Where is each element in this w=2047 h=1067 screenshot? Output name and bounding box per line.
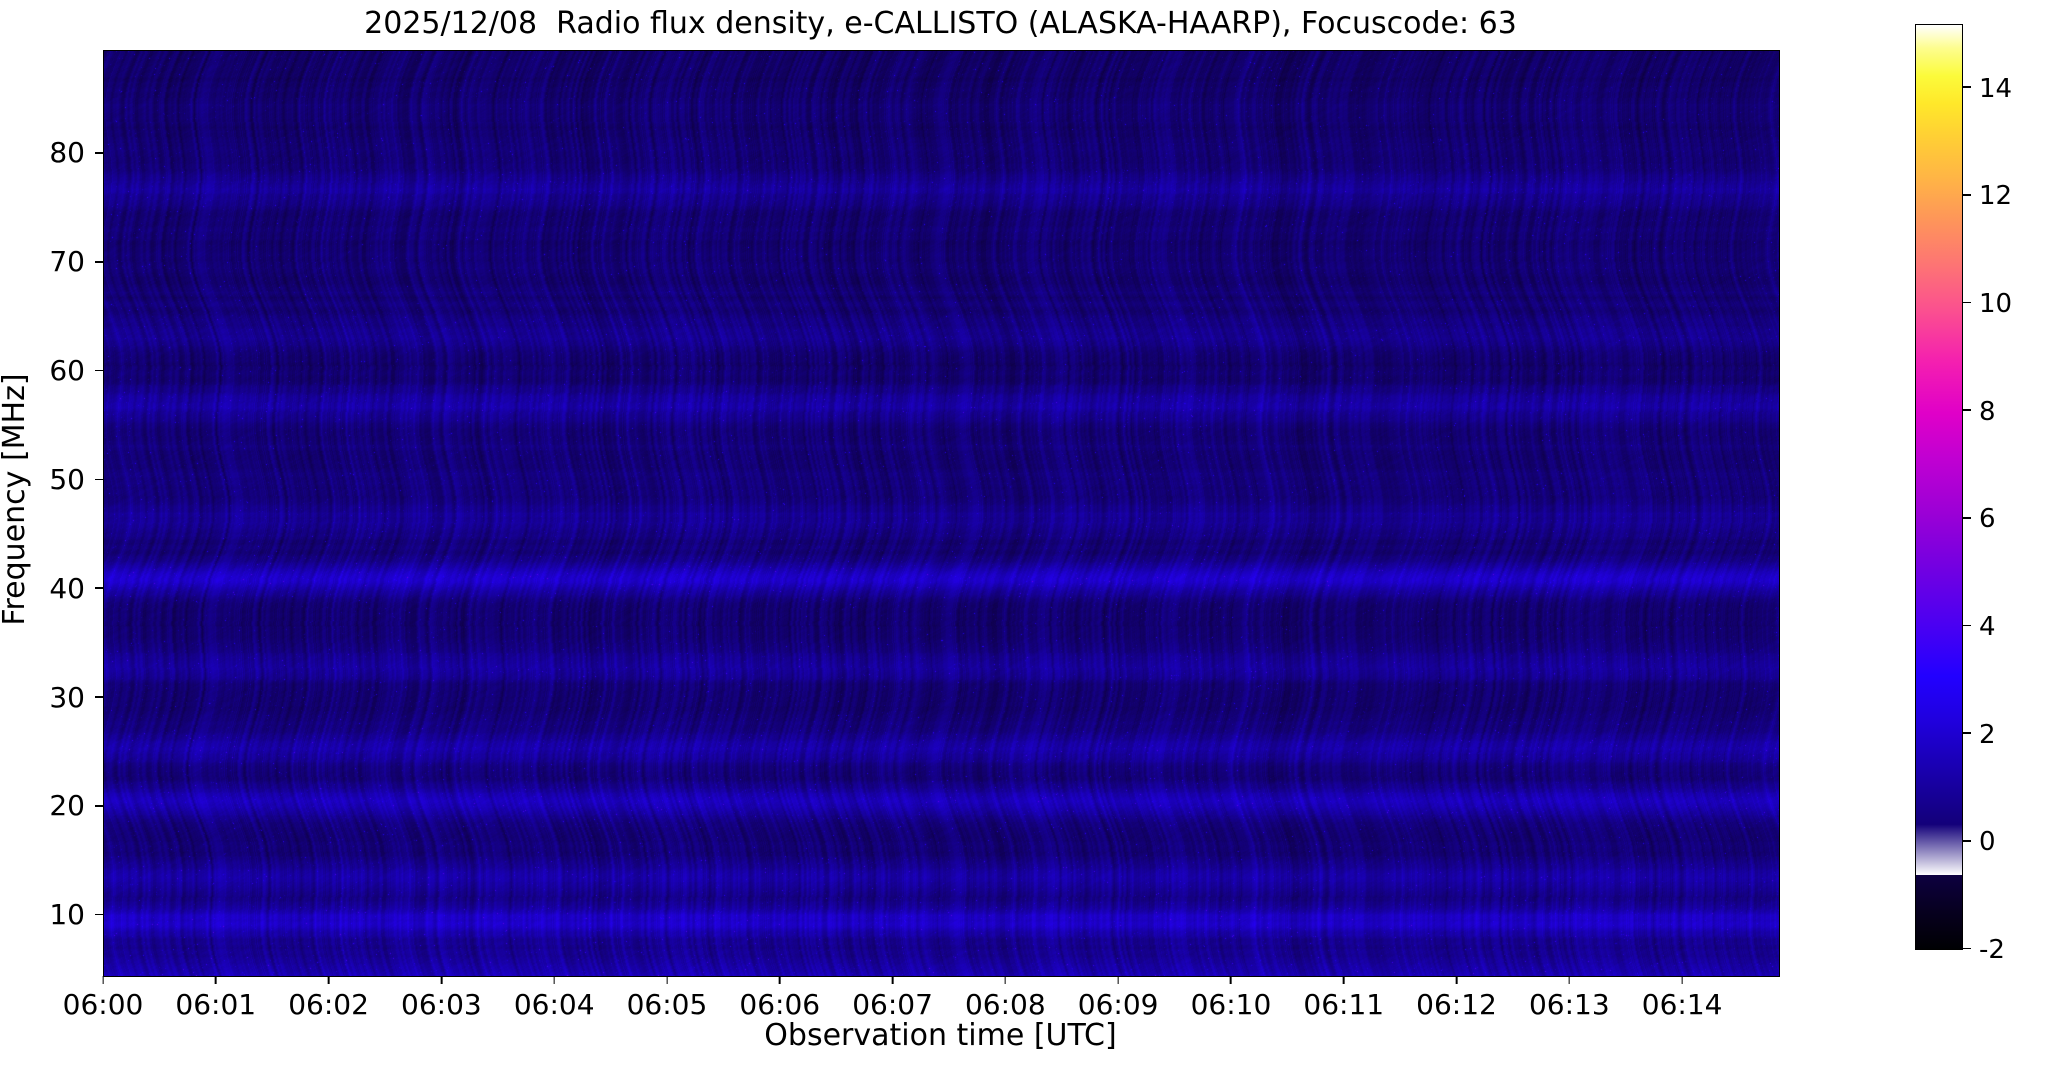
y-tick-80: 80: [49, 138, 103, 168]
x-tick-06-01: 06:01: [175, 976, 256, 1021]
tick-mark-icon: [1963, 840, 1971, 842]
x-tick-06-03: 06:03: [401, 976, 482, 1021]
x-tick-label: 06:04: [514, 988, 595, 1021]
y-tick-label: 80: [49, 136, 85, 169]
tick-mark-icon: [102, 976, 104, 984]
tick-mark-icon: [95, 696, 103, 698]
colorbar-tick-label: 2: [1979, 720, 1996, 750]
colorbar-tick-14: 14: [1963, 76, 2012, 102]
y-tick-label: 70: [49, 245, 85, 278]
x-tick-06-07: 06:07: [852, 976, 933, 1021]
tick-mark-icon: [553, 976, 555, 984]
y-tick-label: 60: [49, 354, 85, 387]
y-tick-30: 30: [49, 683, 103, 713]
colorbar-tick-label: -2: [1979, 935, 2005, 965]
x-tick-label: 06:07: [852, 988, 933, 1021]
tick-mark-icon: [1963, 948, 1971, 950]
x-tick-06-00: 06:00: [63, 976, 144, 1021]
x-tick-label: 06:01: [175, 988, 256, 1021]
y-tick-label: 50: [49, 463, 85, 496]
colorbar-tick-label: 0: [1979, 827, 1996, 857]
x-tick-label: 06:02: [288, 988, 369, 1021]
x-axis-label: Observation time [UTC]: [103, 1018, 1778, 1053]
x-tick-06-04: 06:04: [514, 976, 595, 1021]
colorbar: -202468101214: [1915, 24, 2047, 950]
y-tick-20: 20: [49, 791, 103, 821]
x-tick-06-08: 06:08: [965, 976, 1046, 1021]
colorbar-tick-label: 10: [1979, 289, 2012, 319]
x-tick-06-09: 06:09: [1078, 976, 1159, 1021]
x-tick-label: 06:14: [1642, 988, 1723, 1021]
x-tick-label: 06:05: [627, 988, 708, 1021]
colorbar-ticks: -202468101214: [1963, 24, 2047, 950]
y-tick-40: 40: [49, 574, 103, 604]
tick-mark-icon: [1963, 194, 1971, 196]
tick-mark-icon: [1569, 976, 1571, 984]
y-tick-10: 10: [49, 900, 103, 930]
colorbar-tick-0: 0: [1963, 829, 1996, 855]
x-tick-06-12: 06:12: [1416, 976, 1497, 1021]
y-tick-label: 10: [49, 898, 85, 931]
colorbar-tick-label: 4: [1979, 612, 1996, 642]
spectrogram-image: [104, 51, 1779, 976]
colorbar-tick-4: 4: [1963, 614, 1996, 640]
spectrogram-plot-area: [103, 50, 1780, 977]
tick-mark-icon: [1005, 976, 1007, 984]
x-tick-label: 06:06: [739, 988, 820, 1021]
y-tick-label: 30: [49, 681, 85, 714]
tick-mark-icon: [1963, 732, 1971, 734]
x-tick-label: 06:00: [63, 988, 144, 1021]
tick-mark-icon: [892, 976, 894, 984]
colorbar-tick-8: 8: [1963, 399, 1996, 425]
y-tick-label: 40: [49, 572, 85, 605]
x-tick-06-13: 06:13: [1529, 976, 1610, 1021]
colorbar-tick-2: 2: [1963, 722, 1996, 748]
x-tick-06-05: 06:05: [627, 976, 708, 1021]
tick-mark-icon: [1963, 517, 1971, 519]
x-tick-label: 06:10: [1191, 988, 1272, 1021]
y-tick-50: 50: [49, 465, 103, 495]
colorbar-tick-label: 12: [1979, 181, 2012, 211]
x-tick-06-06: 06:06: [739, 976, 820, 1021]
x-tick-label: 06:03: [401, 988, 482, 1021]
x-tick-label: 06:09: [1078, 988, 1159, 1021]
colorbar-tick-label: 14: [1979, 74, 2012, 104]
tick-mark-icon: [1963, 625, 1971, 627]
colorbar-tick-12: 12: [1963, 183, 2012, 209]
tick-mark-icon: [215, 976, 217, 984]
tick-mark-icon: [1456, 976, 1458, 984]
x-tick-label: 06:12: [1416, 988, 1497, 1021]
x-tick-label: 06:08: [965, 988, 1046, 1021]
y-axis-label: Frequency [MHz]: [0, 37, 32, 962]
tick-mark-icon: [95, 914, 103, 916]
tick-mark-icon: [95, 587, 103, 589]
y-tick-70: 70: [49, 247, 103, 277]
tick-mark-icon: [95, 370, 103, 372]
tick-mark-icon: [95, 479, 103, 481]
colorbar-tick-label: 6: [1979, 504, 1996, 534]
tick-mark-icon: [1343, 976, 1345, 984]
y-tick-label: 20: [49, 789, 85, 822]
tick-mark-icon: [1963, 409, 1971, 411]
tick-mark-icon: [328, 976, 330, 984]
tick-mark-icon: [1230, 976, 1232, 984]
x-tick-label: 06:13: [1529, 988, 1610, 1021]
x-tick-06-11: 06:11: [1303, 976, 1384, 1021]
tick-mark-icon: [1963, 86, 1971, 88]
tick-mark-icon: [666, 976, 668, 984]
x-tick-06-10: 06:10: [1191, 976, 1272, 1021]
tick-mark-icon: [95, 805, 103, 807]
colorbar-tick-6: 6: [1963, 506, 1996, 532]
tick-mark-icon: [441, 976, 443, 984]
x-tick-label: 06:11: [1303, 988, 1384, 1021]
tick-mark-icon: [1963, 302, 1971, 304]
colorbar-gradient: [1915, 24, 1963, 950]
tick-mark-icon: [1681, 976, 1683, 984]
y-tick-60: 60: [49, 356, 103, 386]
colorbar-tick-label: 8: [1979, 397, 1996, 427]
colorbar-tick-10: 10: [1963, 291, 2012, 317]
tick-mark-icon: [95, 261, 103, 263]
page-title: 2025/12/08 Radio flux density, e-CALLIST…: [103, 4, 1778, 44]
x-tick-06-14: 06:14: [1642, 976, 1723, 1021]
x-tick-06-02: 06:02: [288, 976, 369, 1021]
tick-mark-icon: [1117, 976, 1119, 984]
colorbar-tick-neg2: -2: [1963, 937, 2005, 963]
tick-mark-icon: [779, 976, 781, 984]
tick-mark-icon: [95, 152, 103, 154]
